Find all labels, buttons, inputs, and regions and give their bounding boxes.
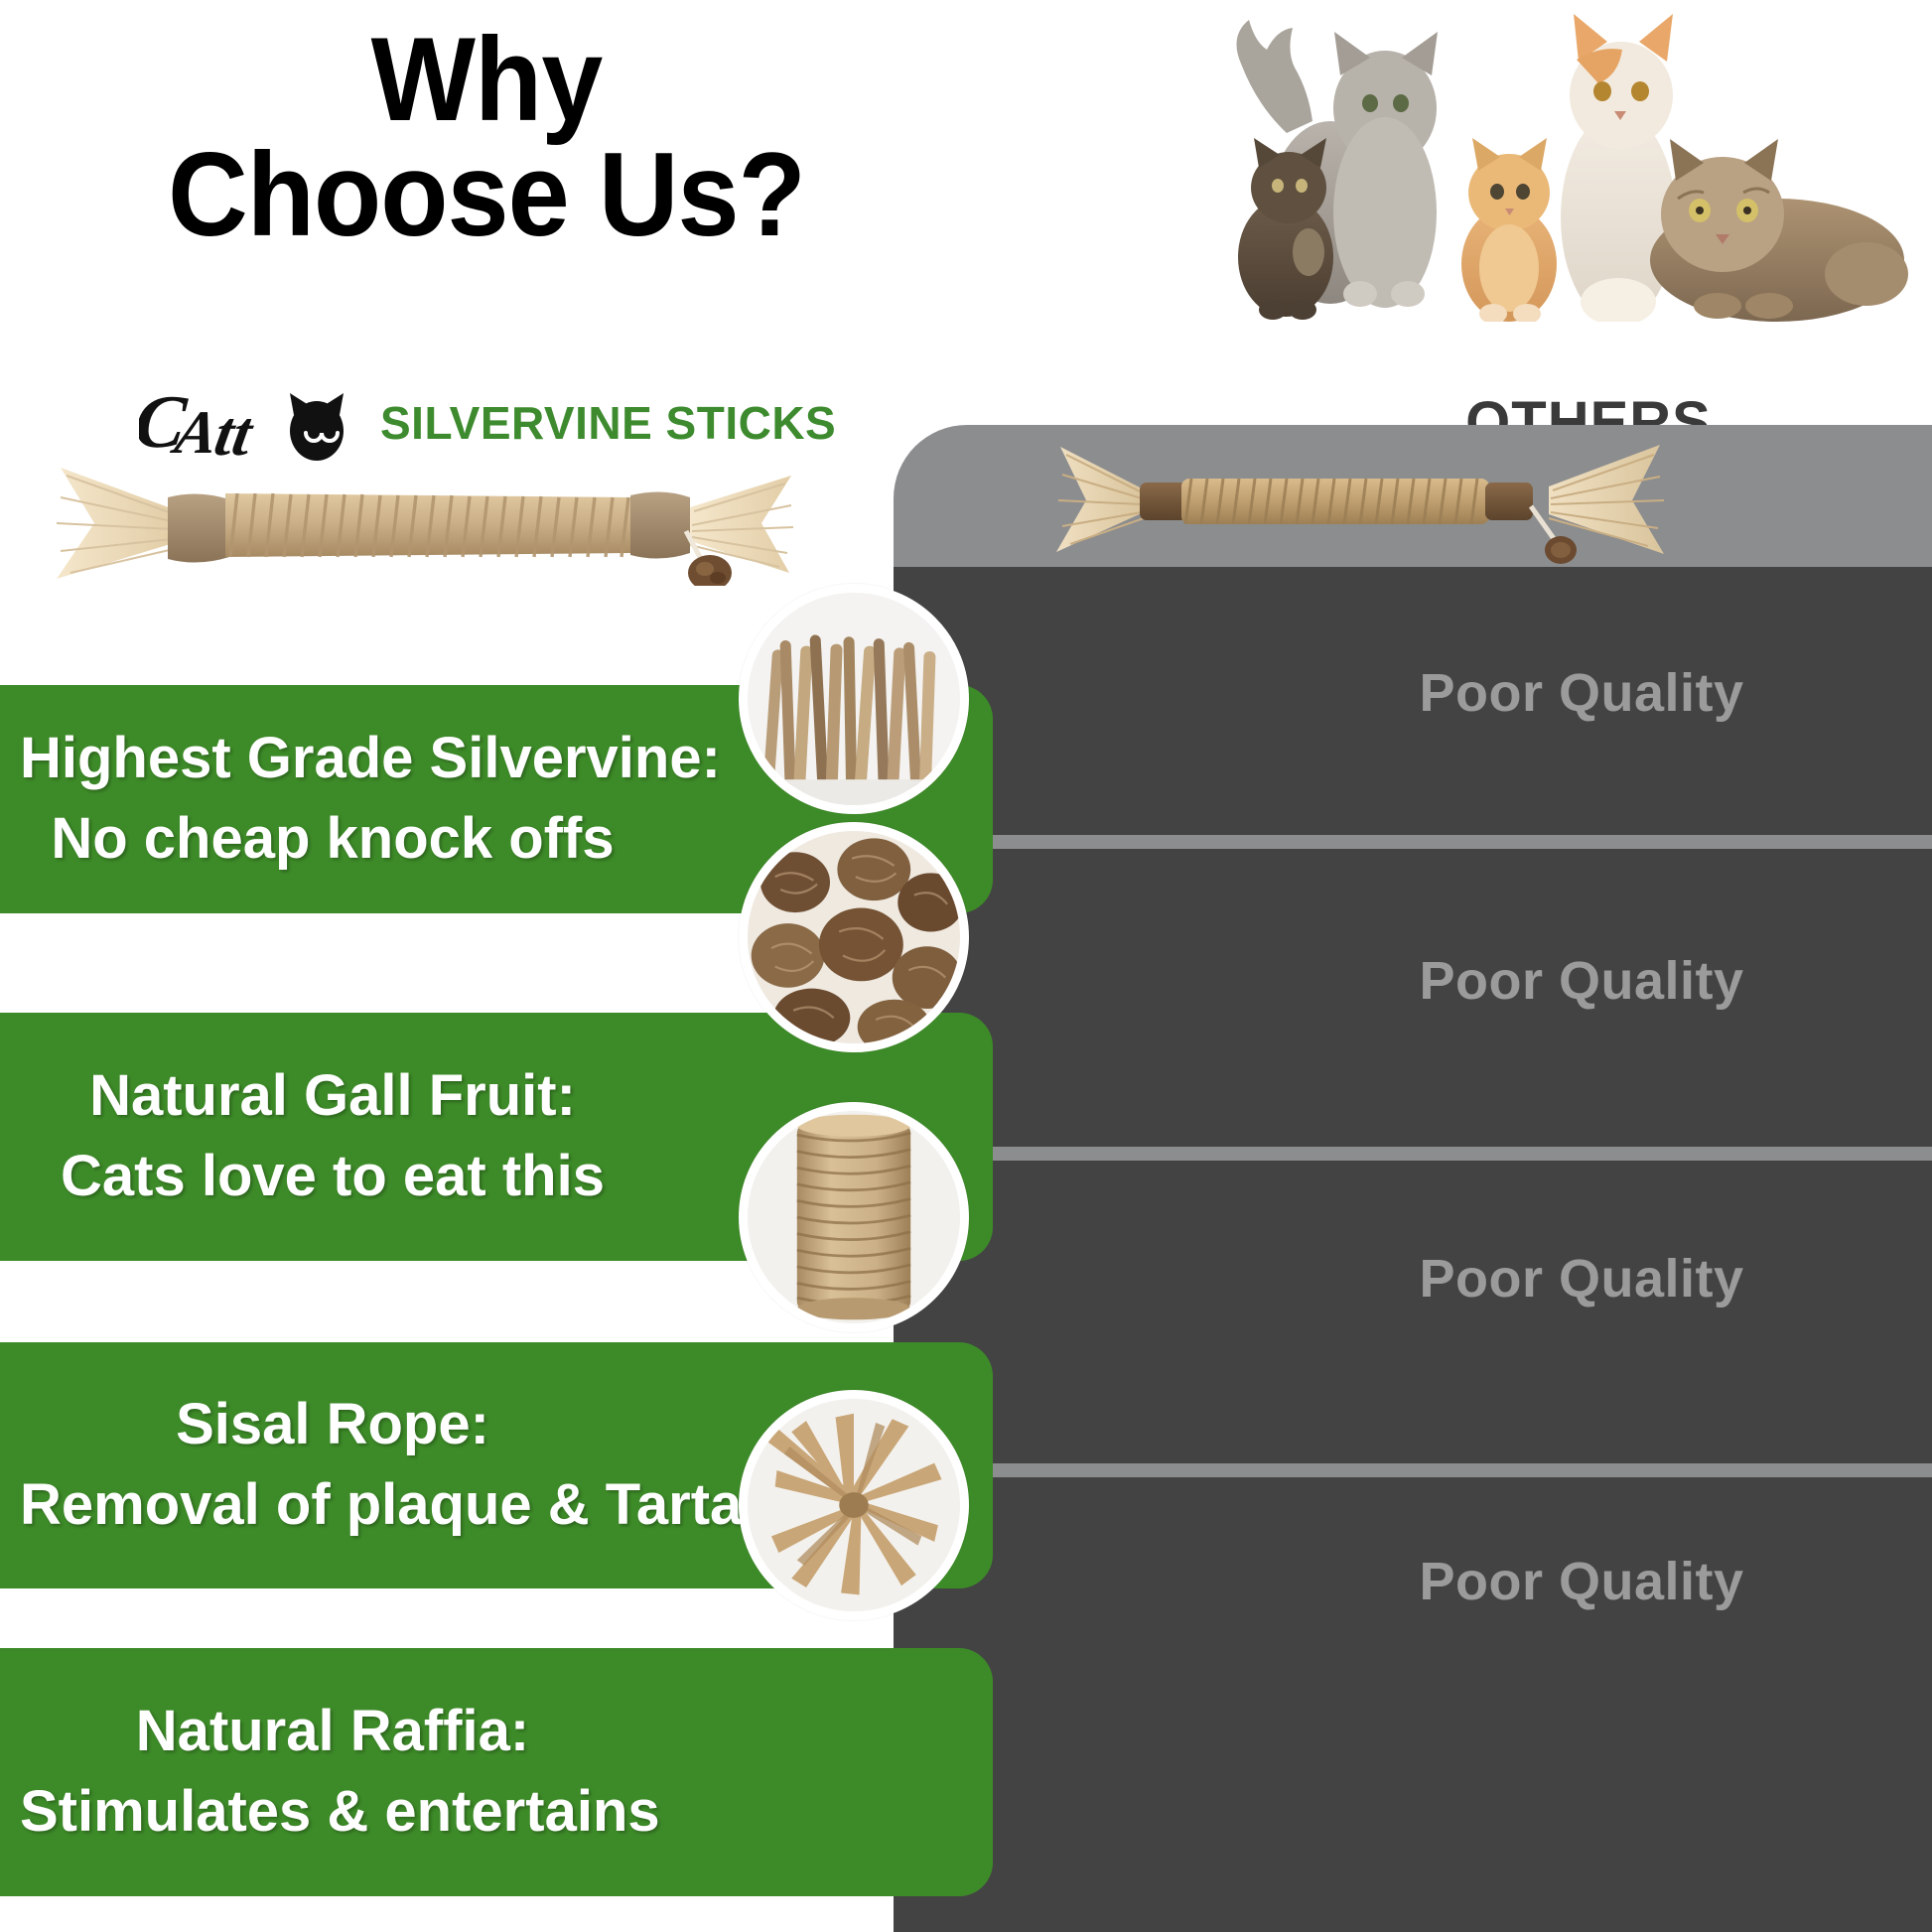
others-segment-3 xyxy=(894,1161,1932,1463)
feature-subtitle: Stimulates & entertains xyxy=(20,1779,645,1846)
sisal-rope-icon xyxy=(748,1111,960,1323)
gall-fruit-thumb[interactable] xyxy=(739,822,969,1052)
others-divider-3 xyxy=(894,1463,1932,1477)
cats-group-photo xyxy=(1181,4,1916,322)
feature-title: Sisal Rope: xyxy=(20,1392,645,1458)
cats-group-illustration xyxy=(1181,4,1916,322)
feature-bar-text: Natural Raffia: Stimulates & entertains xyxy=(0,1699,894,1845)
feature-subtitle: Cats love to eat this xyxy=(20,1144,645,1210)
brand-product-label: SILVERVINE STICKS xyxy=(380,396,836,450)
others-divider-2 xyxy=(894,1147,1932,1161)
silvervine-sticks-icon xyxy=(748,593,960,805)
others-column-panel: Poor Quality Poor Quality Poor Quality P… xyxy=(894,425,1932,1932)
feature-title: Natural Gall Fruit: xyxy=(20,1063,645,1130)
title-line-1: Why xyxy=(89,22,884,137)
bark-end-left xyxy=(1140,483,1187,520)
bark-end-right xyxy=(630,491,690,558)
page-title: Why Choose Us? xyxy=(89,22,884,253)
feature-title: Natural Raffia: xyxy=(20,1699,645,1765)
cat-face-icon: C A tt xyxy=(139,385,362,461)
raffia-tuft-left xyxy=(57,468,174,579)
others-divider-1 xyxy=(894,835,1932,849)
feature-bar-4[interactable]: Natural Raffia: Stimulates & entertains xyxy=(0,1648,993,1896)
sisal-rope-thumb[interactable] xyxy=(739,1102,969,1332)
cat-toy-stick-icon xyxy=(55,462,794,586)
cat-orange-kitten xyxy=(1461,138,1557,322)
cat-toy-stick-icon xyxy=(1052,435,1668,564)
bark-end-left xyxy=(168,493,229,562)
cat-dark-kitten xyxy=(1238,138,1333,320)
brand-row: C A tt SILVERVINE STICKS xyxy=(139,383,834,463)
raffia-icon xyxy=(748,1399,960,1611)
others-segment-1 xyxy=(894,567,1932,835)
others-panel-body xyxy=(894,425,1932,1932)
feature-subtitle: Removal of plaque & Tartar xyxy=(20,1472,645,1539)
silvervine-sticks-thumb[interactable] xyxy=(739,584,969,814)
others-segment-4 xyxy=(894,1477,1932,1932)
competitor-toy-image xyxy=(1052,435,1668,564)
gall-fruit-icon xyxy=(748,831,960,1043)
bark-end-right xyxy=(1485,483,1533,520)
raffia-thumb[interactable] xyxy=(739,1390,969,1620)
cat-brown-tabby-lying xyxy=(1650,139,1908,322)
infographic-root: Why Choose Us? xyxy=(0,0,1932,1932)
others-segment-2 xyxy=(894,849,1932,1147)
product-toy-image xyxy=(55,462,794,586)
title-line-2: Choose Us? xyxy=(89,137,884,252)
feature-subtitle: No cheap knock offs xyxy=(20,806,645,873)
raffia-tuft-left xyxy=(1056,447,1144,552)
feature-title: Highest Grade Silvervine: xyxy=(20,726,645,792)
catto-logo: C A tt xyxy=(139,385,362,461)
